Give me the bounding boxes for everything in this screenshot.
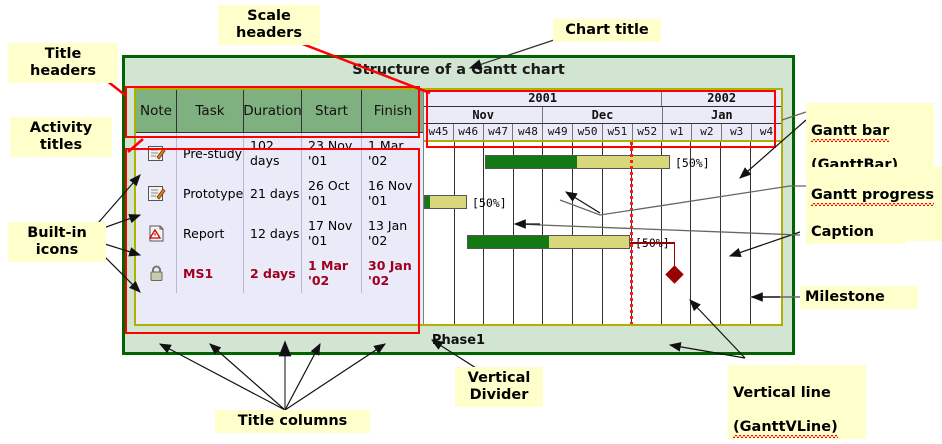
milestone-link-horizontal [630,242,675,244]
annotation-title-columns: Title columns [215,410,370,433]
annotation-vline-line2: (GanttVLine) [733,419,838,436]
annotation-gantt-bar: Gantt bar (GanttBar) [806,103,934,177]
annotation-progress-line1: Gantt progress [811,187,934,204]
gantt-progress-indicator [425,196,430,208]
annotation-gantt-bar-line1: Gantt bar [811,123,889,140]
grid-line [720,142,721,324]
gantt-progress-indicator [486,156,578,168]
milestone-diamond[interactable] [665,265,683,283]
gantt-bar-caption: [50%] [675,156,710,170]
chart-title: Structure of a Gantt chart [125,62,792,78]
grid-line [483,142,484,324]
gantt-bar-caption: [50%] [472,196,507,210]
annotation-scale-headers: Scale headers [218,5,320,45]
gantt-bars-area: [50%] [50%] [50%] [424,142,781,324]
grid-line [572,142,573,324]
gantt-progress-indicator [468,236,549,248]
annotation-vline-line1: Vertical line [733,385,831,401]
highlight-title-headers [125,86,420,138]
annotation-vertical-divider: Vertical Divider [455,367,543,407]
gantt-bar[interactable] [485,155,670,169]
grid-line [454,142,455,324]
phase-label: Phase1 [125,333,792,348]
highlight-activity-titles [125,148,420,334]
annotation-chart-title: Chart title [553,19,661,42]
gantt-vline [630,142,633,324]
annotation-vertical-line: Vertical line (GanttVLine) [728,365,866,439]
annotation-caption: Caption [806,221,906,244]
annotation-milestone: Milestone [800,286,918,309]
grid-line [513,142,514,324]
annotation-builtin-icons: Built-in icons [8,222,106,262]
grid-line [542,142,543,324]
annotation-activity-titles: Activity titles [10,117,112,157]
highlight-scale-headers [426,90,776,148]
grid-line [602,142,603,324]
gantt-bar[interactable] [467,235,630,249]
annotation-title-headers: Title headers [8,43,118,83]
gantt-bar[interactable] [424,195,467,209]
grid-line [750,142,751,324]
grid-line [661,142,662,324]
